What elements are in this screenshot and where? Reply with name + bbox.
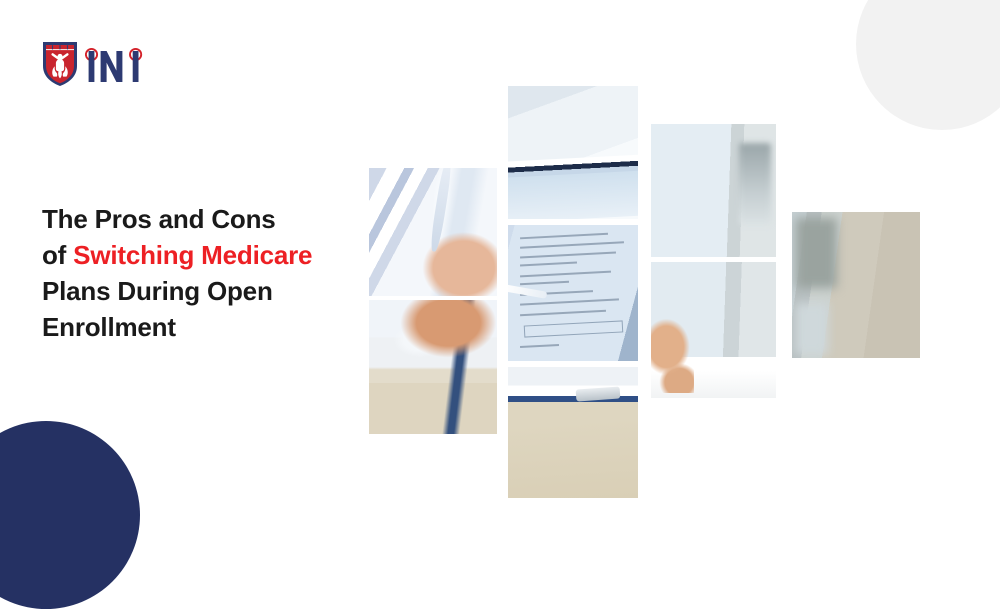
collage-tile-doctor-coat-stethoscope: [369, 168, 497, 296]
collage-tile-doctor-hands-desk: [369, 300, 497, 434]
headline-line-3: Plans During Open: [42, 276, 273, 306]
headline-line-4: Enrollment: [42, 312, 176, 342]
logo-wordmark-ini: [85, 40, 149, 86]
headline-accent-text: Switching Medicare: [73, 240, 312, 270]
collage-tile-clinic-room-blur: [651, 124, 776, 257]
collage-tile-clipboard-desk: [508, 367, 638, 498]
collage-tile-soft-beige-blur: [792, 212, 920, 358]
page-title: The Pros and Cons of Switching Medicare …: [42, 202, 382, 346]
brand-logo[interactable]: [40, 38, 149, 88]
shield-icon: [40, 38, 80, 88]
collage-tile-tablet-monitor: [508, 86, 638, 219]
collage-tile-hand-writing-form: [651, 262, 776, 398]
collage-tile-medical-form-pen: [508, 225, 638, 361]
headline-line-2-prefix: of: [42, 240, 73, 270]
headline-line-1: The Pros and Cons: [42, 204, 276, 234]
